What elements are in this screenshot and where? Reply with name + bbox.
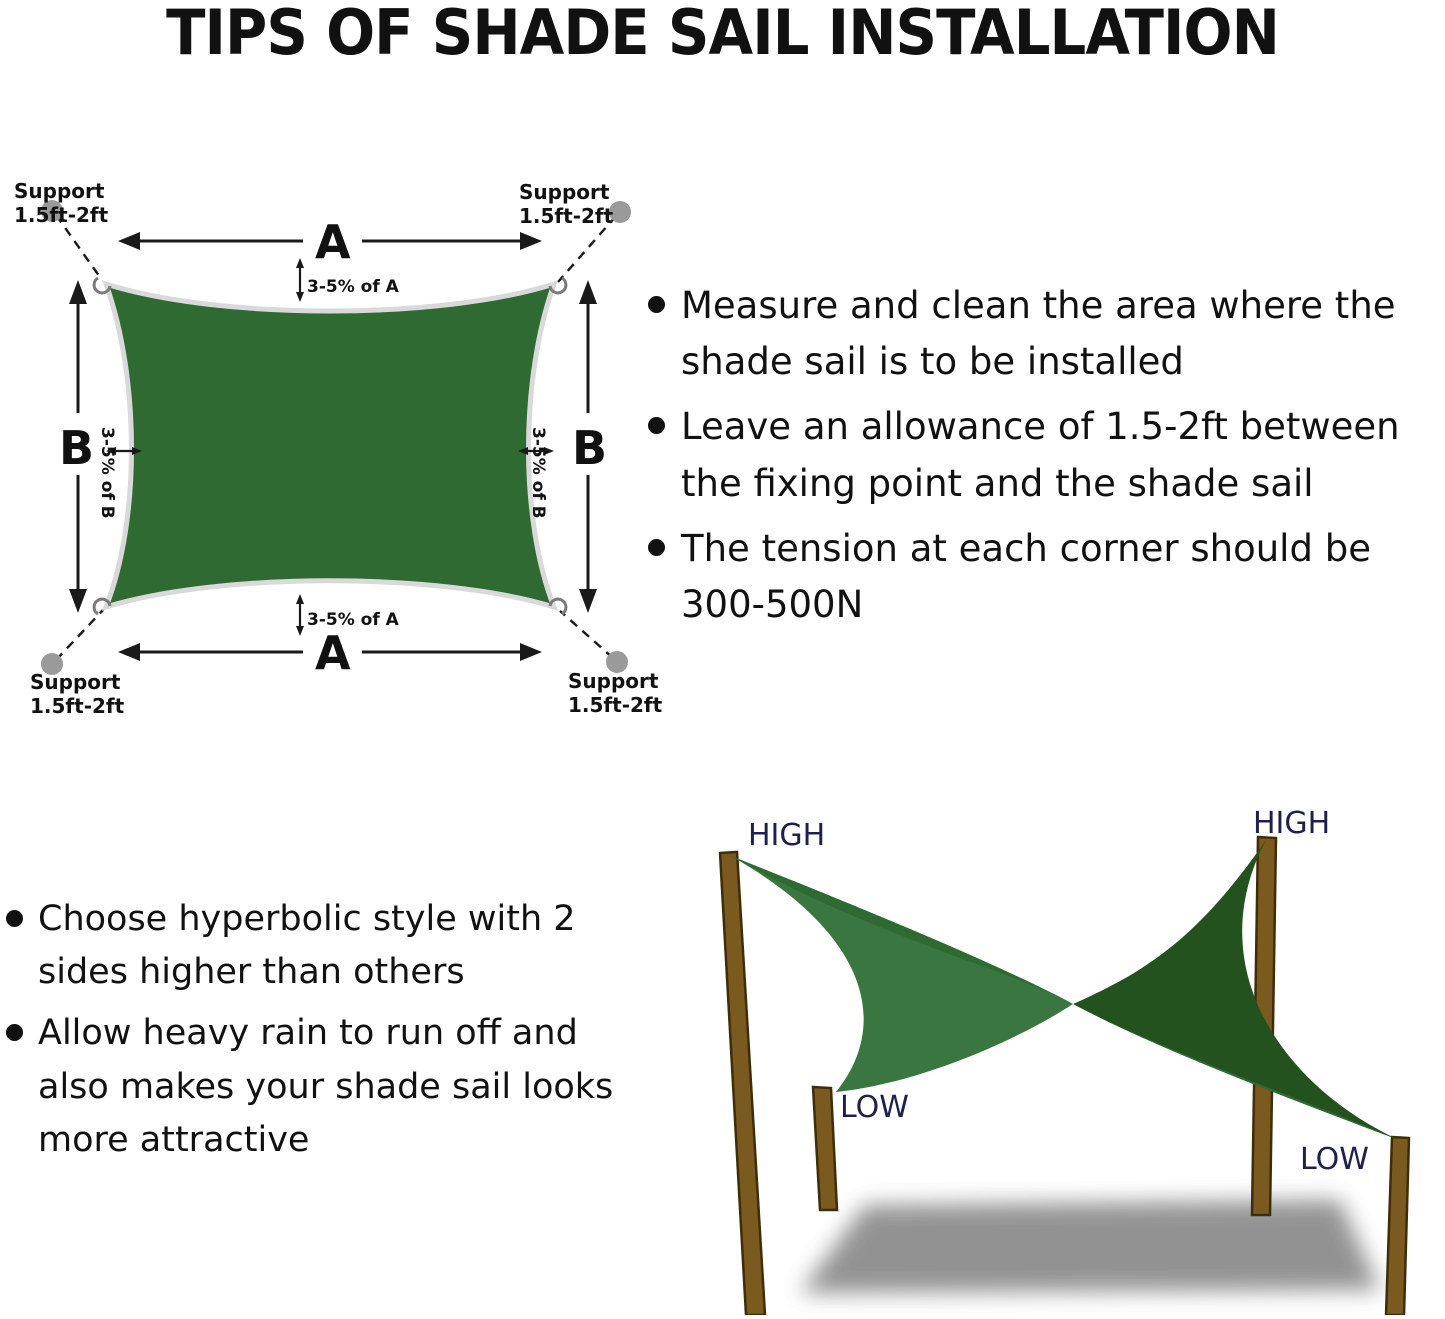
sail-lobe-right <box>1073 840 1399 1140</box>
dimension-label-left-B: B <box>59 421 94 475</box>
arrowhead-top-left-B <box>69 280 87 304</box>
arrowhead-bottom-right-B <box>579 589 597 613</box>
hyperbolic-shade-sail-diagram <box>680 795 1445 1315</box>
sag-label-left: 3-5% of B <box>97 427 117 519</box>
bullet-dot-icon <box>6 1024 23 1041</box>
sail-lobe-left <box>731 856 1073 1092</box>
sag-label-right: 3-5% of B <box>528 427 548 519</box>
list-item: Allow heavy rain to run off and also mak… <box>6 1007 626 1167</box>
list-item: The tension at each corner should be 300… <box>648 521 1445 633</box>
arrowhead-left-bottom-A <box>118 643 140 661</box>
sag-arrow-bottom-down <box>296 626 304 636</box>
list-item-text: Choose hyperbolic style with 2 sides hig… <box>38 893 626 999</box>
bullet-dot-icon <box>648 417 665 434</box>
sag-arrow-top-down <box>296 292 304 302</box>
label-high-right: HIGH <box>1253 806 1330 841</box>
arrowhead-top-right-B <box>579 280 597 304</box>
page-title: TIPS OF SHADE SAIL INSTALLATION <box>51 0 1395 69</box>
installation-tips-list: Measure and clean the area where the sha… <box>648 278 1445 642</box>
sag-arrow-top-up <box>296 258 304 268</box>
label-low-left: LOW <box>840 1090 909 1125</box>
sag-label-bottom: 3-5% of A <box>307 610 399 630</box>
support-label-bottom-right: Support 1.5ft-2ft <box>568 670 662 717</box>
support-label-top-right: Support 1.5ft-2ft <box>519 181 613 228</box>
list-item: Measure and clean the area where the sha… <box>648 278 1445 390</box>
label-high-left: HIGH <box>748 818 825 853</box>
sail-shape <box>106 284 554 607</box>
sag-label-top: 3-5% of A <box>307 277 399 297</box>
dimension-label-top-A: A <box>315 215 351 269</box>
support-label-top-left: Support 1.5ft-2ft <box>14 180 108 227</box>
bullet-dot-icon <box>648 296 665 313</box>
list-item-text: Leave an allowance of 1.5-2ft between th… <box>681 399 1445 511</box>
sag-arrow-bottom-up <box>296 594 304 604</box>
arrowhead-bottom-left-B <box>69 589 87 613</box>
list-item-text: The tension at each corner should be 300… <box>681 521 1445 633</box>
list-item: Leave an allowance of 1.5-2ft between th… <box>648 399 1445 511</box>
list-item-text: Allow heavy rain to run off and also mak… <box>38 1007 626 1167</box>
list-item: Choose hyperbolic style with 2 sides hig… <box>6 893 626 999</box>
label-low-right: LOW <box>1300 1142 1369 1177</box>
bullet-dot-icon <box>648 539 665 556</box>
arrowhead-right-top-A <box>520 232 542 250</box>
support-label-bottom-left: Support 1.5ft-2ft <box>30 671 124 718</box>
ground-shadow <box>800 1200 1380 1293</box>
pole-high-left <box>720 852 765 1315</box>
arrowhead-left-top-A <box>118 232 140 250</box>
arrowhead-right-bottom-A <box>520 643 542 661</box>
list-item-text: Measure and clean the area where the sha… <box>681 278 1445 390</box>
pole-low-left <box>813 1087 837 1210</box>
dimension-label-bottom-A: A <box>315 626 351 680</box>
hyperbolic-tips-list: Choose hyperbolic style with 2 sides hig… <box>6 893 626 1175</box>
dimension-label-right-B: B <box>572 421 607 475</box>
pole-low-right <box>1386 1137 1409 1315</box>
bullet-dot-icon <box>6 910 23 927</box>
